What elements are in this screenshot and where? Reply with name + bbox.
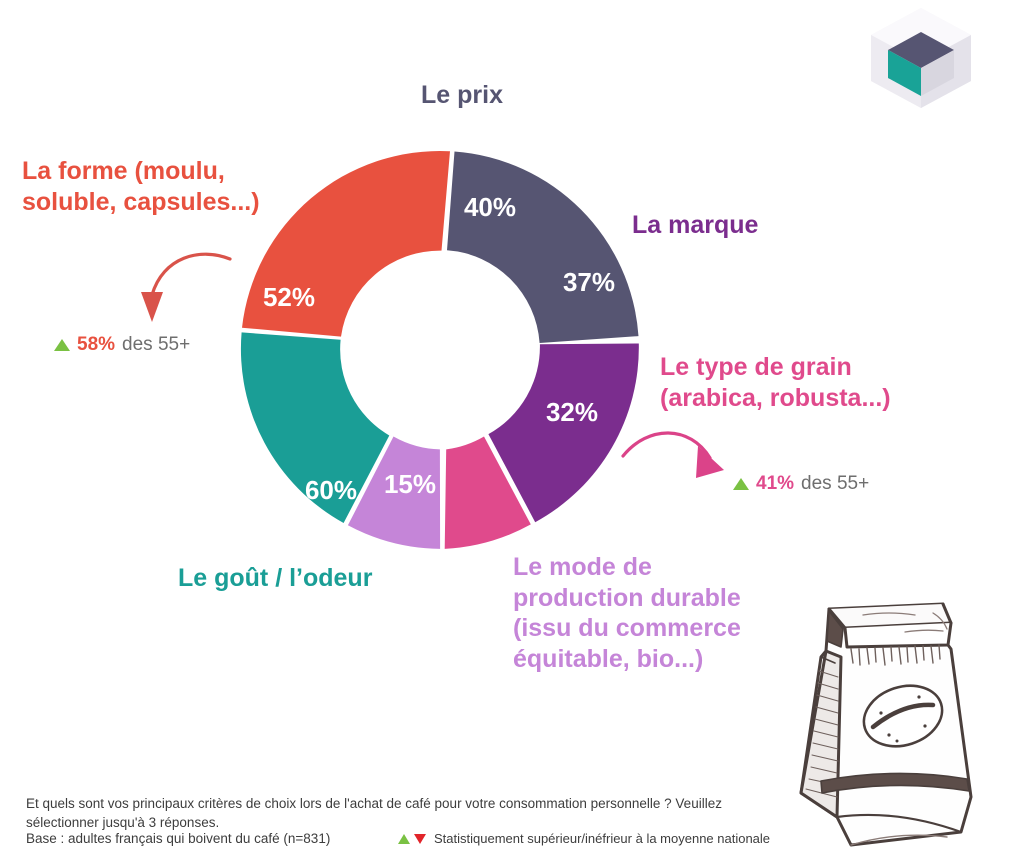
slice-value-le-mode-de-production-durable: 15%	[384, 469, 436, 499]
category-label-le-gout-l-odeur: Le goût / l’odeur	[178, 563, 498, 594]
arrow-head-grain	[696, 446, 724, 478]
category-label-le-type-de-grain: Le type de grain (arabica, robusta...)	[660, 352, 980, 413]
cube-logo	[858, 2, 984, 108]
arrow-head-forme	[141, 292, 163, 322]
category-label-la-marque: La marque	[632, 210, 872, 241]
category-label-le-prix: Le prix	[352, 80, 572, 111]
cube-logo-icon	[858, 2, 984, 108]
callout-le-type-de-grain: 41% des 55+	[733, 473, 869, 495]
infographic-page: 40% 37% 32% 15% 60% 52% Le prix La forme…	[0, 0, 1012, 864]
slice-value-le-gout-l-odeur: 60%	[305, 475, 357, 505]
triangle-up-icon	[398, 834, 410, 844]
slice-value-le-type-de-grain: 32%	[546, 397, 598, 427]
footer: Et quels sont vos principaux critères de…	[0, 790, 1012, 864]
arrow-curve-forme	[152, 254, 230, 295]
callout-grain-text: des 55+	[801, 473, 869, 495]
footer-base: Base : adultes français qui boivent du c…	[26, 831, 330, 846]
triangle-up-icon	[54, 339, 70, 351]
triangle-down-icon	[414, 834, 426, 844]
callout-forme-text: des 55+	[122, 334, 190, 356]
callout-forme-percent: 58%	[77, 334, 115, 356]
footer-legend: Statistiquement supérieur/inéfrieur à la…	[398, 831, 770, 846]
callout-la-forme: 58% des 55+	[54, 334, 190, 356]
slice-value-la-marque: 37%	[563, 267, 615, 297]
category-label-la-forme: La forme (moulu, soluble, capsules...)	[22, 156, 312, 217]
footer-legend-text: Statistiquement supérieur/inéfrieur à la…	[434, 831, 770, 846]
callout-grain-percent: 41%	[756, 473, 794, 495]
slice-le-prix[interactable]	[447, 152, 639, 344]
triangle-up-icon	[733, 478, 749, 490]
slice-value-le-prix: 40%	[464, 192, 516, 222]
footer-question: Et quels sont vos principaux critères de…	[26, 794, 771, 832]
slice-value-la-forme: 52%	[263, 282, 315, 312]
category-label-le-mode-de-production-durable: Le mode de production durable (issu du c…	[513, 552, 773, 674]
